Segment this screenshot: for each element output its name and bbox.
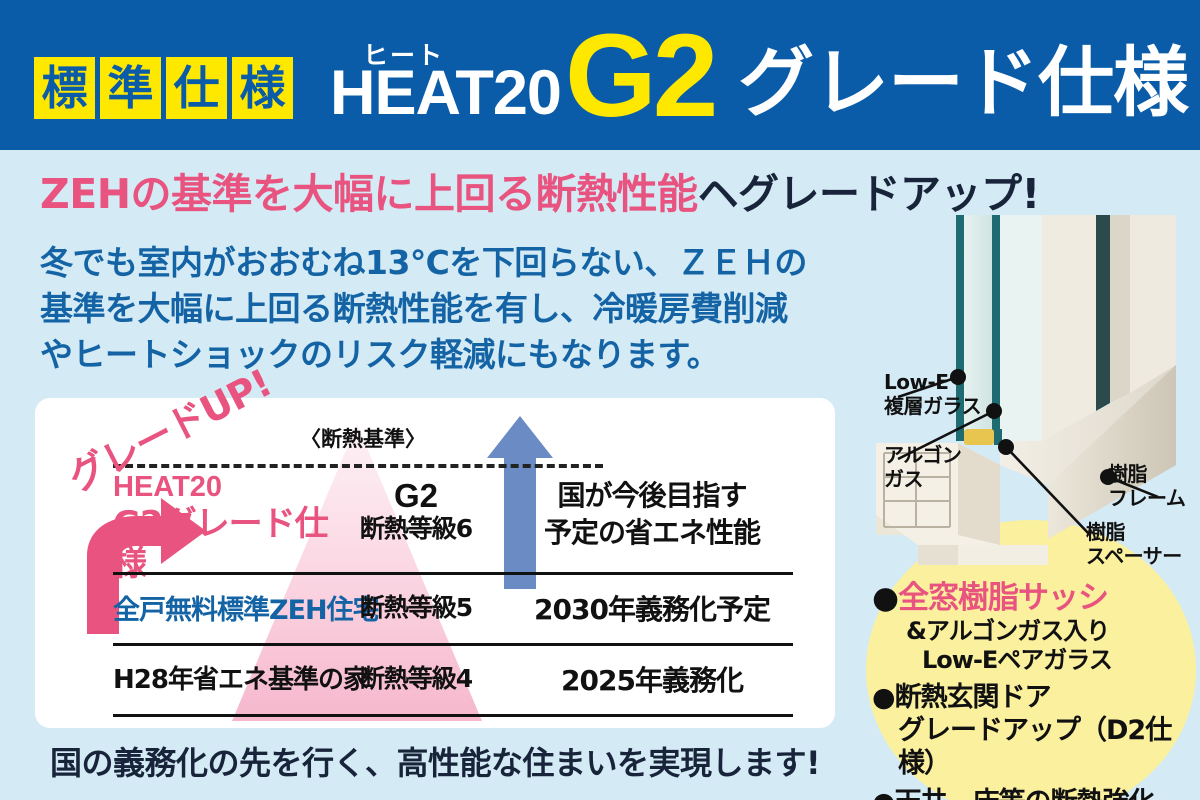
- bullet-dot-icon: ●: [872, 580, 898, 616]
- row1-status-line1: 国が今後目指す: [511, 477, 793, 514]
- bullet-dot-icon: ●: [872, 682, 895, 713]
- label-argon-gas: アルゴン ガス: [884, 443, 961, 491]
- bullet-2-main-row: ●断熱玄関ドア: [872, 681, 1192, 714]
- list-item: ●断熱玄関ドア グレードアップ（D2仕様）: [872, 681, 1192, 780]
- row3-spec: H28年省エネ基準の家: [113, 659, 331, 696]
- table-row: 全戸無料標準ZEH住宅 断熱等級5 2030年義務化予定: [113, 588, 793, 636]
- body-paragraph: 冬でも室内がおおむね13℃を下回らない、ＺＥＨの 基準を大幅に上回る断熱性能を有…: [40, 240, 870, 378]
- row3-status: 2025年義務化: [511, 659, 793, 699]
- list-item: ●天井、床等の断熱強化: [872, 786, 1192, 800]
- feature-bullet-list: ●全窓樹脂サッシ &アルゴンガス入り Low-Eペアガラス ●断熱玄関ドア グレ…: [872, 580, 1192, 800]
- insulation-standard-dashed-line: [113, 464, 603, 468]
- row2-status: 2030年義務化予定: [511, 588, 793, 628]
- row1-spec-line1: HEAT20: [113, 470, 331, 504]
- body-line-3: やヒートショックのリスク軽減にもなります。: [40, 332, 870, 378]
- badge-char-3: 仕: [166, 57, 227, 119]
- list-item: ●全窓樹脂サッシ &アルゴンガス入り Low-Eペアガラス: [872, 580, 1192, 675]
- bullet-2-sub-1: グレードアップ（D2仕様）: [872, 714, 1192, 780]
- bullet-1-main-row: ●全窓樹脂サッシ: [872, 580, 1192, 617]
- table-row: HEAT20 G2グレード仕様 G2 断熱等級6 国が今後目指す 予定の省エネ性…: [113, 470, 793, 562]
- bullet-3-main-row: ●天井、床等の断熱強化: [872, 786, 1192, 800]
- heat20-brand-title: HEAT20: [330, 62, 561, 125]
- row-divider-3: [113, 714, 793, 717]
- bullet-3-main: 天井、床等の断熱強化: [895, 787, 1155, 800]
- badge-char-1: 標: [34, 57, 95, 119]
- bullet-1-sub-2: Low-Eペアガラス: [872, 646, 1192, 675]
- row1-spec: HEAT20 G2グレード仕様: [113, 470, 331, 584]
- badge-char-4: 様: [232, 57, 293, 119]
- row1-grade: G2 断熱等級6: [331, 478, 501, 544]
- row1-status: 国が今後目指す 予定の省エネ性能: [511, 477, 793, 551]
- row1-grade-code: G2: [331, 478, 501, 514]
- label-argon-line2: ガス: [884, 467, 961, 491]
- row-divider-2: [113, 643, 793, 646]
- body-line-1: 冬でも室内がおおむね13℃を下回らない、ＺＥＨの: [40, 240, 870, 286]
- row2-spec: 全戸無料標準ZEH住宅: [113, 588, 331, 627]
- bullet-2-main: 断熱玄関ドア: [895, 682, 1051, 713]
- row3-grade-level: 断熱等級4: [331, 659, 501, 695]
- insulation-standard-label: 〈断熱基準〉: [300, 423, 426, 453]
- headline-navy-text: ヘグレードアップ!: [698, 170, 1040, 218]
- footer-caption: 国の義務化の先を行く、高性能な住まいを実現します!: [50, 738, 820, 784]
- header-bar: 標 準 仕 様 ヒート HEAT20 G2 グレード仕様: [0, 0, 1200, 150]
- label-lowe-line1: Low-E: [884, 370, 981, 394]
- label-resin-spacer: 樹脂 スペーサー: [1086, 520, 1182, 568]
- g2-grade-title: G2: [565, 17, 714, 135]
- bullet-dot-icon: ●: [872, 787, 895, 800]
- row1-status-line2: 予定の省エネ性能: [511, 514, 793, 551]
- label-lowe-glass: Low-E 複層ガラス: [884, 370, 981, 418]
- label-frame-line2: フレーム: [1108, 486, 1185, 510]
- row1-grade-level: 断熱等級6: [331, 514, 501, 544]
- grade-spec-title: グレード仕様: [738, 45, 1188, 121]
- row-divider-1: [113, 572, 793, 575]
- label-resin-frame: 樹脂 フレーム: [1108, 462, 1185, 510]
- headline-pink-text: ZEHの基準を大幅に上回る断熱性能: [40, 170, 698, 218]
- badge-char-2: 準: [100, 57, 161, 119]
- standard-spec-badge: 標 準 仕 様: [34, 57, 293, 119]
- label-frame-line1: 樹脂: [1108, 462, 1185, 486]
- bullet-1-sub-1: &アルゴンガス入り: [872, 617, 1192, 646]
- label-spacer-line1: 樹脂: [1086, 520, 1182, 544]
- label-argon-line1: アルゴン: [884, 443, 961, 467]
- table-row: H28年省エネ基準の家 断熱等級4 2025年義務化: [113, 659, 793, 707]
- body-line-2: 基準を大幅に上回る断熱性能を有し、冷暖房費削減: [40, 286, 870, 332]
- label-lowe-line2: 複層ガラス: [884, 394, 981, 418]
- label-spacer-line2: スペーサー: [1086, 544, 1182, 568]
- page-headline: ZEHの基準を大幅に上回る断熱性能ヘグレードアップ!: [40, 168, 1040, 220]
- infographic-root: 標 準 仕 様 ヒート HEAT20 G2 グレード仕様 ZEHの基準を大幅に上…: [0, 0, 1200, 800]
- row2-grade-level: 断熱等級5: [331, 588, 501, 624]
- grade-comparison-panel: 〈断熱基準〉 グレードUP! HEAT20 G2グレード仕様 G2 断熱等級6 …: [35, 398, 835, 728]
- bullet-1-main: 全窓樹脂サッシ: [898, 580, 1108, 616]
